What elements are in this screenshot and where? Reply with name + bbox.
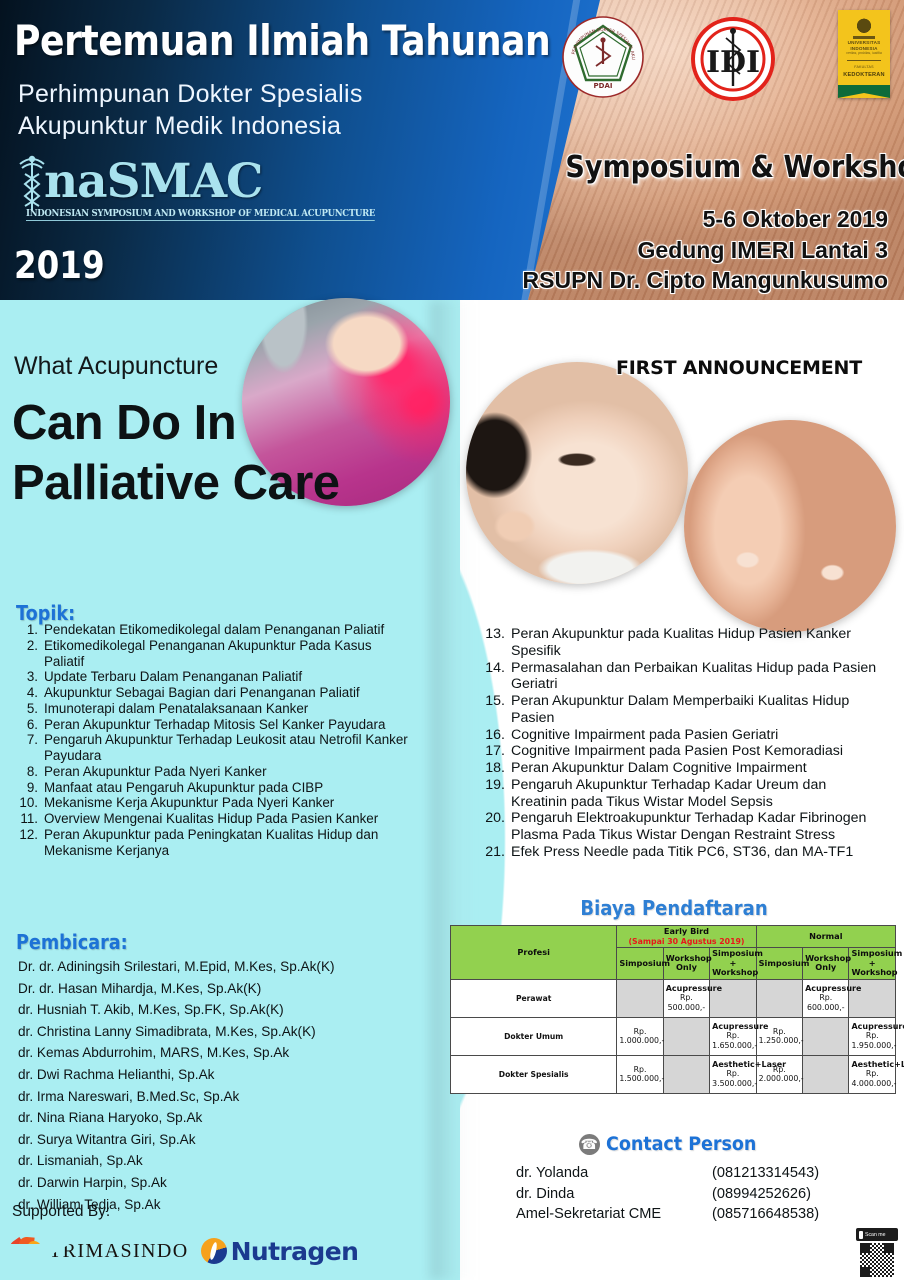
contact-phone[interactable]: (085716648538) (712, 1204, 819, 1225)
topic-text: Peran Akupunktur Dalam Cognitive Impairm… (511, 760, 880, 777)
fee-cell-amount: Rp. 4.000.000,- (851, 1069, 893, 1088)
topic-item: 10.Mekanisme Kerja Akupunktur Pada Nyeri… (16, 795, 410, 811)
fee-subheader: Simposium (617, 947, 663, 979)
topics-list-right: 13.Peran Akupunktur pada Kualitas Hidup … (480, 626, 880, 861)
topic-text: Mekanisme Kerja Akupunktur Pada Nyeri Ka… (44, 795, 410, 811)
topic-text: Pengaruh Akupunktur Terhadap Leukosit at… (44, 732, 410, 764)
topic-item: 5.Imunoterapi dalam Penatalaksanaan Kank… (16, 701, 410, 717)
event-details: 5-6 Oktober 2019 Gedung IMERI Lantai 3 R… (476, 204, 896, 296)
pdai-logo: PDAI PERHIMPUNAN DOKTER SPESIALIS AKUPUN… (562, 16, 644, 98)
topic-item: 15.Peran Akupunktur Dalam Memperbaiki Ku… (480, 693, 880, 727)
topic-number: 3. (16, 669, 38, 685)
fee-cell-amount: Rp. 500.000,- (666, 993, 707, 1012)
topic-item: 17.Cognitive Impairment pada Pasien Post… (480, 743, 880, 760)
fee-cell-label: Acupressure (666, 984, 707, 994)
speaker-item: Dr. dr. Adiningsih Srilestari, M.Epid, M… (18, 956, 418, 978)
topic-item: 7.Pengaruh Akupunktur Terhadap Leukosit … (16, 732, 410, 764)
topic-number: 11. (16, 811, 38, 827)
topic-text: Peran Akupunktur Dalam Memperbaiki Kuali… (511, 693, 880, 727)
hero-kicker: What Acupuncture (14, 352, 218, 381)
fee-cell: Rp. 1.500.000,- (617, 1055, 663, 1093)
speaker-item: dr. Irma Nareswari, B.Med.Sc, Sp.Ak (18, 1086, 418, 1108)
topic-text: Peran Akupunktur Pada Nyeri Kanker (44, 764, 410, 780)
nasmac-tagline: INDONESIAN SYMPOSIUM AND WORKSHOP OF MED… (26, 208, 375, 221)
speaker-item: dr. Lismaniah, Sp.Ak (18, 1150, 418, 1172)
fee-cell: Aesthetic+LaserRp. 4.000.000,- (849, 1055, 896, 1093)
contact-list: dr. Yolanda(081213314543)dr. Dinda(08994… (516, 1163, 856, 1225)
page-title: Pertemuan Ilmiah Tahunan (14, 16, 550, 65)
contact-heading: Contact Person (452, 1133, 896, 1155)
topic-text: Imunoterapi dalam Penatalaksanaan Kanker (44, 701, 410, 717)
topic-item: 21.Efek Press Needle pada Titik PC6, ST3… (480, 844, 880, 861)
topic-text: Efek Press Needle pada Titik PC6, ST36, … (511, 844, 880, 861)
ui-fakultas: FAKULTAS (838, 65, 890, 69)
topic-number: 13. (480, 626, 505, 643)
topic-number: 8. (16, 764, 38, 780)
topic-item: 18.Peran Akupunktur Dalam Cognitive Impa… (480, 760, 880, 777)
wheat-icon (201, 1238, 227, 1264)
fee-cell-amount: Rp. 1.000.000,- (619, 1027, 660, 1046)
fee-row-profesi: Perawat (451, 979, 617, 1017)
topic-number: 10. (16, 795, 38, 811)
topic-number: 19. (480, 777, 505, 794)
speaker-item: dr. Dwi Rachma Helianthi, Sp.Ak (18, 1064, 418, 1086)
universitas-indonesia-logo: UNIVERSITAS INDONESIA veritas, probitas,… (838, 10, 890, 98)
symposium-workshop-title: Symposium & Workshop (565, 150, 878, 185)
topic-text: Permasalahan dan Perbaikan Kualitas Hidu… (511, 660, 880, 694)
qr-code-block[interactable]: Scan me (846, 1228, 898, 1278)
topic-item: 1.Pendekatan Etikomedikolegal dalam Pena… (16, 622, 410, 638)
contact-name: dr. Yolanda (516, 1163, 712, 1184)
topic-number: 1. (16, 622, 38, 638)
sponsor-logos: TRIMASINDO Nutragen (8, 1236, 358, 1266)
topic-number: 12. (16, 827, 38, 843)
topic-text: Peran Akupunktur pada Peningkatan Kualit… (44, 827, 410, 859)
topic-number: 14. (480, 660, 505, 677)
topic-item: 12.Peran Akupunktur pada Peningkatan Kua… (16, 827, 410, 859)
fee-cell-amount: Rp. 3.500.000,- (712, 1069, 753, 1088)
poster-header: Pertemuan Ilmiah Tahunan Perhimpunan Dok… (0, 0, 904, 300)
nasmac-logo: naSMAC INDONESIAN SYMPOSIUM AND WORKSHOP… (10, 156, 330, 226)
speakers-list: Dr. dr. Adiningsih Srilestari, M.Epid, M… (18, 956, 418, 1215)
topic-number: 9. (16, 780, 38, 796)
topic-item: 11.Overview Mengenai Kualitas Hidup Pada… (16, 811, 410, 827)
fee-cell (803, 1017, 849, 1055)
topic-item: 13.Peran Akupunktur pada Kualitas Hidup … (480, 626, 880, 660)
header-early-bird: Early Bird (Sampai 30 Agustus 2019) (617, 926, 756, 948)
trimasindo-wordmark: TRIMASINDO (49, 1240, 189, 1263)
topic-item: 20.Pengaruh Elektroakupunktur Terhadap K… (480, 810, 880, 844)
ui-motto: veritas, probitas, iustitia (838, 51, 890, 55)
early-bird-note: (Sampai 30 Agustus 2019) (619, 937, 753, 946)
topic-text: Akupunktur Sebagai Bagian dari Penangana… (44, 685, 410, 701)
contact-phone[interactable]: (08994252626) (712, 1184, 811, 1205)
fee-cell-amount: Rp. 1.500.000,- (619, 1065, 660, 1084)
nutragen-logo: Nutragen (201, 1237, 359, 1266)
contact-name: Amel-Sekretariat CME (516, 1204, 712, 1225)
contact-person-label: Contact Person (606, 1133, 756, 1155)
topic-text: Manfaat atau Pengaruh Akupunktur pada CI… (44, 780, 410, 796)
topic-number: 16. (480, 727, 505, 744)
topic-text: Pengaruh Akupunktur Terhadap Kadar Ureum… (511, 777, 880, 811)
header-profesi: Profesi (451, 926, 617, 980)
hero-headline: Can Do In Palliative Care (12, 394, 412, 514)
topic-text: Pengaruh Elektroakupunktur Terhadap Kada… (511, 810, 880, 844)
svg-text:PDAI: PDAI (594, 82, 613, 90)
fee-cell: Aesthetic+LaserRp. 3.500.000,- (710, 1055, 756, 1093)
facial-acupuncture-photo (466, 362, 688, 584)
fee-cell: AcupressureRp. 600.000,- (803, 979, 849, 1017)
contact-item: Amel-Sekretariat CME(085716648538) (516, 1204, 856, 1225)
organization-subtitle: Perhimpunan Dokter Spesialis Akupunktur … (18, 78, 363, 142)
topic-item: 14.Permasalahan dan Perbaikan Kualitas H… (480, 660, 880, 694)
fee-cell: AcupressureRp. 1.650.000,- (710, 1017, 756, 1055)
topic-item: 8.Peran Akupunktur Pada Nyeri Kanker (16, 764, 410, 780)
year-label: 2019 (14, 244, 105, 287)
fee-cell: Rp. 1.000.000,- (617, 1017, 663, 1055)
topic-number: 4. (16, 685, 38, 701)
fees-title: Biaya Pendaftaran (474, 896, 874, 920)
topic-number: 6. (16, 717, 38, 733)
topic-number: 17. (480, 743, 505, 760)
topic-number: 2. (16, 638, 38, 654)
registration-fee-table: Profesi Early Bird (Sampai 30 Agustus 20… (450, 925, 896, 1094)
phone-icon (579, 1134, 600, 1155)
speakers-heading: Pembicara: (16, 930, 128, 954)
fee-cell-amount: Rp. 1.650.000,- (712, 1031, 753, 1050)
topic-text: Overview Mengenai Kualitas Hidup Pada Pa… (44, 811, 410, 827)
header-normal: Normal (756, 926, 895, 948)
topic-text: Cognitive Impairment pada Pasien Geriatr… (511, 727, 880, 744)
topic-text: Update Terbaru Dalam Penanganan Paliatif (44, 669, 410, 685)
contact-item: dr. Dinda(08994252626) (516, 1184, 856, 1205)
topic-number: 7. (16, 732, 38, 748)
fee-table-row: Dokter SpesialisRp. 1.500.000,-Aesthetic… (451, 1055, 896, 1093)
fee-cell: AcupressureRp. 1.950.000,- (849, 1017, 896, 1055)
topics-list-left: 1.Pendekatan Etikomedikolegal dalam Pena… (16, 622, 410, 858)
topic-text: Cognitive Impairment pada Pasien Post Ke… (511, 743, 880, 760)
speaker-item: dr. Nina Riana Haryoko, Sp.Ak (18, 1107, 418, 1129)
speaker-item: dr. Christina Lanny Simadibrata, M.Kes, … (18, 1021, 418, 1043)
qr-code-icon[interactable] (860, 1243, 894, 1277)
ui-name: UNIVERSITAS INDONESIA (838, 40, 890, 51)
speaker-item: dr. Surya Witantra Giri, Sp.Ak (18, 1129, 418, 1151)
contact-phone[interactable]: (081213314543) (712, 1163, 819, 1184)
fee-subheader: Simposium + Workshop (710, 947, 756, 979)
topic-item: 9.Manfaat atau Pengaruh Akupunktur pada … (16, 780, 410, 796)
topic-number: 20. (480, 810, 505, 827)
fee-cell-label: Aesthetic+Laser (851, 1060, 893, 1070)
first-announcement-badge: FIRST ANNOUNCEMENT (616, 357, 862, 379)
topic-text: Etikomedikolegal Penanganan Akupunktur P… (44, 638, 410, 670)
ui-divider (847, 60, 881, 61)
topic-text: Peran Akupunktur Terhadap Mitosis Sel Ka… (44, 717, 410, 733)
idi-logo: IDI (690, 16, 776, 102)
fee-subheader: Simposium + Workshop (849, 947, 896, 979)
fee-cell-label: Acupressure (712, 1022, 753, 1032)
fee-row-profesi: Dokter Umum (451, 1017, 617, 1055)
nasmac-wordmark: naSMAC (44, 158, 262, 205)
nutragen-wordmark: Nutragen (231, 1237, 359, 1266)
topic-number: 5. (16, 701, 38, 717)
speaker-item: dr. Darwin Harpin, Sp.Ak (18, 1172, 418, 1194)
early-bird-label: Early Bird (664, 926, 709, 936)
fee-table-head: Profesi Early Bird (Sampai 30 Agustus 20… (451, 926, 896, 980)
topic-item: 3.Update Terbaru Dalam Penanganan Paliat… (16, 669, 410, 685)
topic-text: Peran Akupunktur pada Kualitas Hidup Pas… (511, 626, 880, 660)
ui-kedokteran: KEDOKTERAN (838, 72, 890, 78)
fee-cell (803, 1055, 849, 1093)
supported-by-label: Supported By: (12, 1203, 110, 1221)
topic-number: 21. (480, 844, 505, 861)
topic-item: 4.Akupunktur Sebagai Bagian dari Penanga… (16, 685, 410, 701)
fee-cell: AcupressureRp. 500.000,- (663, 979, 709, 1017)
phone-glyph-icon (859, 1231, 863, 1239)
makara-icon (851, 17, 877, 39)
fee-cell-label: Acupressure (851, 1022, 893, 1032)
speaker-item: dr. Husniah T. Akib, M.Kes, Sp.FK, Sp.Ak… (18, 999, 418, 1021)
fee-cell-label: Aesthetic+Laser (712, 1060, 753, 1070)
topic-number: 15. (480, 693, 505, 710)
fee-subheader: Workshop Only (803, 947, 849, 979)
fee-cell (663, 1055, 709, 1093)
topic-item: 16.Cognitive Impairment pada Pasien Geri… (480, 727, 880, 744)
topic-text: Pendekatan Etikomedikolegal dalam Penang… (44, 622, 410, 638)
fee-cell-amount: Rp. 600.000,- (805, 993, 846, 1012)
fee-table-row: PerawatAcupressureRp. 500.000,-Acupressu… (451, 979, 896, 1017)
acupressure-photo (684, 420, 896, 632)
scan-me-badge: Scan me (856, 1228, 898, 1241)
fee-cell (617, 979, 663, 1017)
scan-me-label: Scan me (865, 1232, 885, 1238)
fee-cell-label: Acupressure (805, 984, 846, 994)
fee-cell-amount: Rp. 1.950.000,- (851, 1031, 893, 1050)
speaker-item: dr. Kemas Abdurrohim, MARS, M.Kes, Sp.Ak (18, 1042, 418, 1064)
fee-row-profesi: Dokter Spesialis (451, 1055, 617, 1093)
fee-header-row-groups: Profesi Early Bird (Sampai 30 Agustus 20… (451, 926, 896, 948)
poster-root: Pertemuan Ilmiah Tahunan Perhimpunan Dok… (0, 0, 904, 1280)
topic-item: 19.Pengaruh Akupunktur Terhadap Kadar Ur… (480, 777, 880, 811)
fee-cell (663, 1017, 709, 1055)
topic-number: 18. (480, 760, 505, 777)
fee-table-body: PerawatAcupressureRp. 500.000,-Acupressu… (451, 979, 896, 1093)
fee-cell (756, 979, 802, 1017)
topic-item: 6.Peran Akupunktur Terhadap Mitosis Sel … (16, 717, 410, 733)
fee-subheader: Workshop Only (663, 947, 709, 979)
contact-name: dr. Dinda (516, 1184, 712, 1205)
fee-subheader: Simposium (756, 947, 802, 979)
topic-item: 2.Etikomedikolegal Penanganan Akupunktur… (16, 638, 410, 670)
contact-item: dr. Yolanda(081213314543) (516, 1163, 856, 1184)
fee-table-row: Dokter UmumRp. 1.000.000,-AcupressureRp.… (451, 1017, 896, 1055)
speaker-item: Dr. dr. Hasan Mihardja, M.Kes, Sp.Ak(K) (18, 978, 418, 1000)
